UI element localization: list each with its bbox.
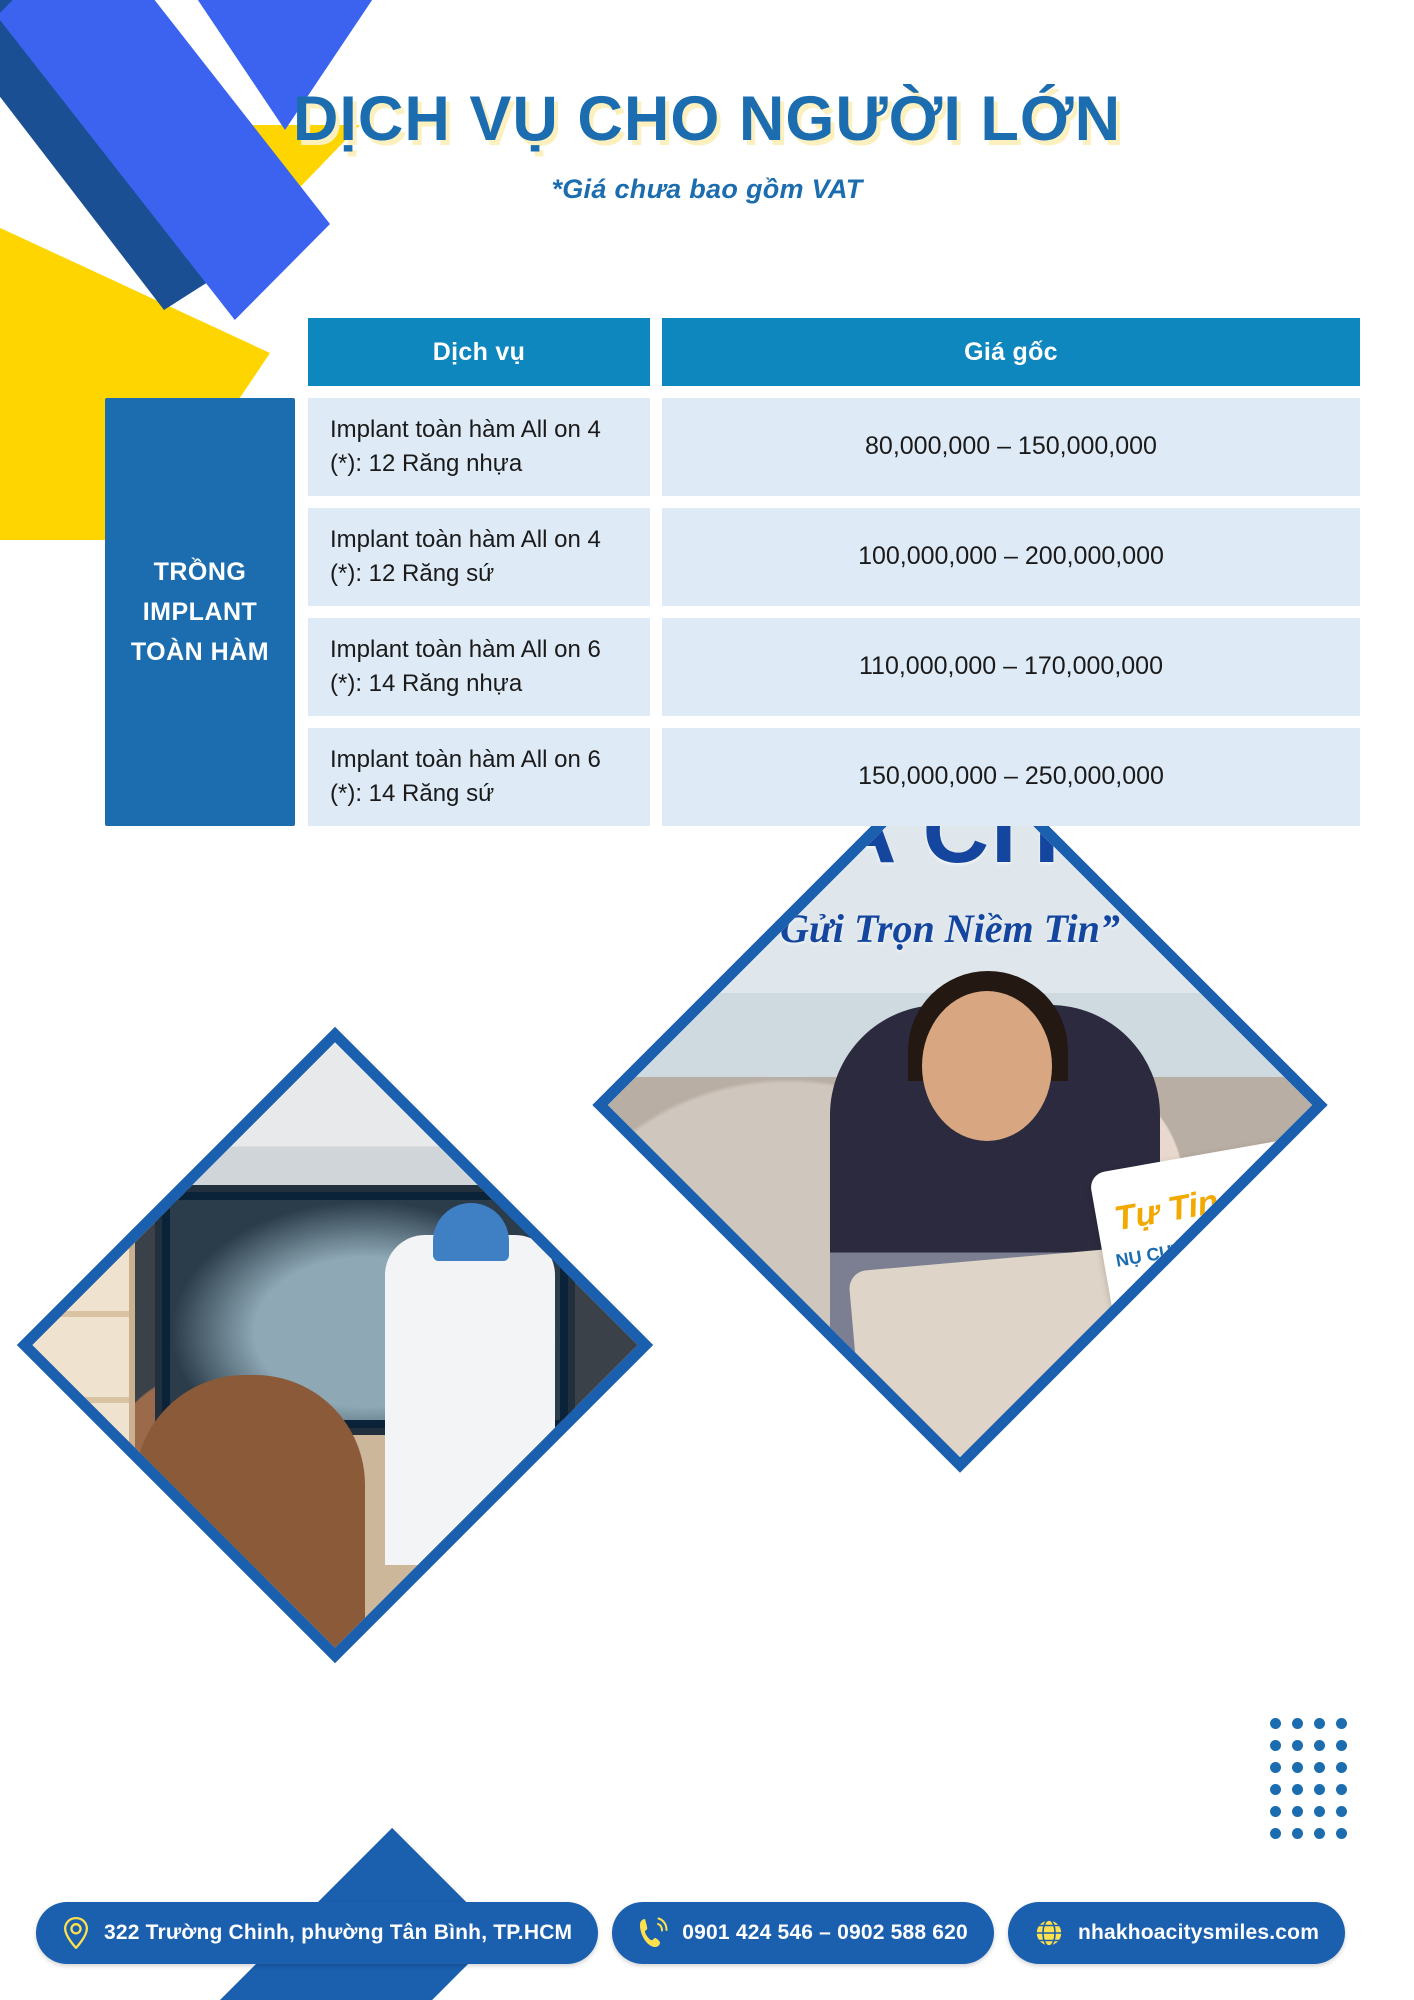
contact-address-pill[interactable]: 322 Trường Chinh, phường Tân Bình, TP.HC… [36, 1902, 598, 1964]
branded-pillow [848, 1239, 1244, 1471]
table-header-row: Dịch vụ Giá gốc [0, 318, 1414, 386]
photo-clinic-scene [17, 1035, 653, 1655]
photo-happy-patient: A CITY S Gửi Trọn Niềm Tin” Tự Tin NỤ CƯ… [592, 737, 1327, 1472]
page-title: DỊCH VỤ CHO NGƯỜI LỚN [0, 86, 1414, 152]
price-cell: 100,000,000 – 200,000,000 [662, 508, 1360, 606]
service-cell: Implant toàn hàm All on 4 (*): 12 Răng n… [308, 398, 650, 496]
footer-website-text: nhakhoacitysmiles.com [1078, 1921, 1319, 1945]
table-rows: Implant toàn hàm All on 4 (*): 12 Răng n… [308, 398, 1414, 826]
phone-icon [638, 1917, 668, 1949]
service-cell: Implant toàn hàm All on 6 (*): 14 Răng n… [308, 618, 650, 716]
table-body: TRỒNG IMPLANT TOÀN HÀM Implant toàn hàm … [0, 398, 1414, 826]
category-cell: TRỒNG IMPLANT TOÀN HÀM [105, 398, 295, 826]
patient-face [922, 991, 1052, 1141]
poster-page: DỊCH VỤ CHO NGƯỜI LỚN *Giá chưa bao gồm … [0, 0, 1414, 2000]
dentist-figure [385, 1235, 555, 1565]
decor-dot-grid [1270, 1718, 1358, 1850]
location-pin-icon [62, 1917, 90, 1949]
column-header-price: Giá gốc [662, 318, 1360, 386]
poster-header: DỊCH VỤ CHO NGƯỜI LỚN *Giá chưa bao gồm … [0, 86, 1414, 205]
footer-contact-bar: 322 Trường Chinh, phường Tân Bình, TP.HC… [0, 1902, 1414, 1964]
photo-clinic-consultation [17, 1027, 653, 1663]
table-row: Implant toàn hàm All on 6 (*): 14 Răng s… [308, 728, 1414, 826]
price-cell: 110,000,000 – 170,000,000 [662, 618, 1360, 716]
shelf [17, 1225, 135, 1555]
column-header-service: Dịch vụ [308, 318, 650, 386]
patient-figure [135, 1375, 365, 1663]
prop-sign-line1: Tự Tin [1112, 1183, 1222, 1240]
table-row: Implant toàn hàm All on 4 (*): 12 Răng n… [308, 398, 1414, 496]
contact-phone-pill[interactable]: 0901 424 546 – 0902 588 620 [612, 1902, 994, 1964]
pricing-table: Dịch vụ Giá gốc TRỒNG IMPLANT TOÀN HÀM I… [0, 318, 1414, 826]
price-cell: 80,000,000 – 150,000,000 [662, 398, 1360, 496]
table-row: Implant toàn hàm All on 6 (*): 14 Răng n… [308, 618, 1414, 716]
price-cell: 150,000,000 – 250,000,000 [662, 728, 1360, 826]
page-subtitle: *Giá chưa bao gồm VAT [0, 174, 1414, 205]
table-row: Implant toàn hàm All on 4 (*): 12 Răng s… [308, 508, 1414, 606]
clinic-slogan-text: Gửi Trọn Niềm Tin” [780, 905, 1120, 952]
service-cell: Implant toàn hàm All on 6 (*): 14 Răng s… [308, 728, 650, 826]
service-cell: Implant toàn hàm All on 4 (*): 12 Răng s… [308, 508, 650, 606]
footer-address-text: 322 Trường Chinh, phường Tân Bình, TP.HC… [104, 1921, 572, 1945]
photo-patient-scene: A CITY S Gửi Trọn Niềm Tin” Tự Tin NỤ CƯ… [592, 755, 1327, 1455]
contact-website-pill[interactable]: nhakhoacitysmiles.com [1008, 1902, 1345, 1964]
globe-icon [1034, 1918, 1064, 1948]
footer-phone-text: 0901 424 546 – 0902 588 620 [682, 1921, 968, 1945]
